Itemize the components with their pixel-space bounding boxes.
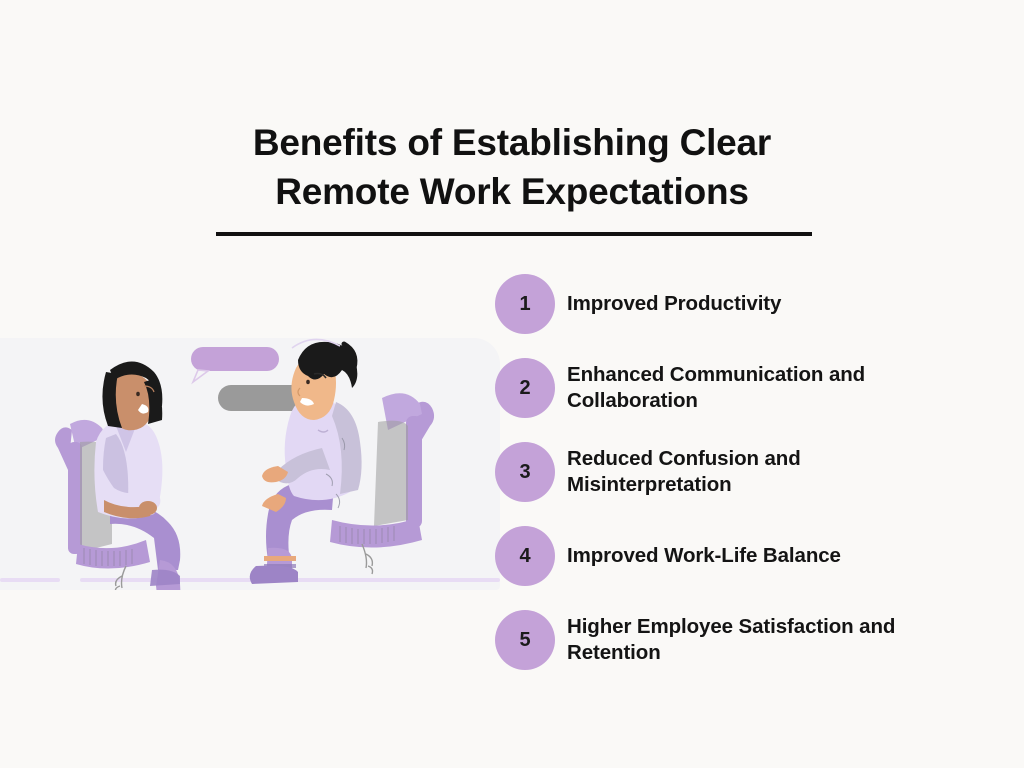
list-item[interactable]: 1 Improved Productivity	[495, 274, 781, 334]
woman-hand	[139, 501, 157, 515]
status-badge: 4	[495, 526, 555, 586]
illustration-svg	[0, 338, 500, 590]
title-underline-divider	[216, 232, 812, 236]
list-item-label: Improved Productivity	[567, 291, 781, 317]
slide-title-line-2: Remote Work Expectations	[0, 167, 1024, 216]
list-item[interactable]: 4 Improved Work-Life Balance	[495, 526, 841, 586]
list-item[interactable]: 5 Higher Employee Satisfaction and Reten…	[495, 610, 957, 670]
chair-right-stem	[362, 544, 373, 574]
slide-root: Benefits of Establishing Clear Remote Wo…	[0, 0, 1024, 768]
woman-eye	[136, 392, 140, 396]
two-people-conversation-illustration	[0, 338, 500, 590]
chair-left-back-edge	[68, 442, 82, 554]
status-badge: 2	[495, 358, 555, 418]
woman-seated-left	[55, 361, 182, 590]
status-badge: 5	[495, 610, 555, 670]
status-badge: 1	[495, 274, 555, 334]
list-item[interactable]: 3 Reduced Confusion and Misinterpretatio…	[495, 442, 957, 502]
man-eye	[306, 380, 310, 384]
speech-bubble-purple	[191, 347, 279, 382]
man-sock-stripe-1	[264, 556, 296, 561]
list-item-label: Improved Work-Life Balance	[567, 543, 841, 569]
man-seated-right	[250, 339, 434, 584]
status-badge: 3	[495, 442, 555, 502]
list-item[interactable]: 2 Enhanced Communication and Collaborati…	[495, 358, 957, 418]
chair-right-back-edge	[406, 416, 422, 528]
list-item-label: Higher Employee Satisfaction and Retenti…	[567, 614, 957, 666]
chair-right-back-inner	[374, 421, 408, 526]
list-item-label: Enhanced Communication and Collaboration	[567, 362, 957, 414]
page-title: Benefits of Establishing Clear Remote Wo…	[0, 118, 1024, 216]
man-boot	[250, 566, 298, 584]
list-item-label: Reduced Confusion and Misinterpretation	[567, 446, 957, 498]
slide-title-line-1: Benefits of Establishing Clear	[0, 118, 1024, 167]
ground-line-left	[0, 578, 60, 582]
